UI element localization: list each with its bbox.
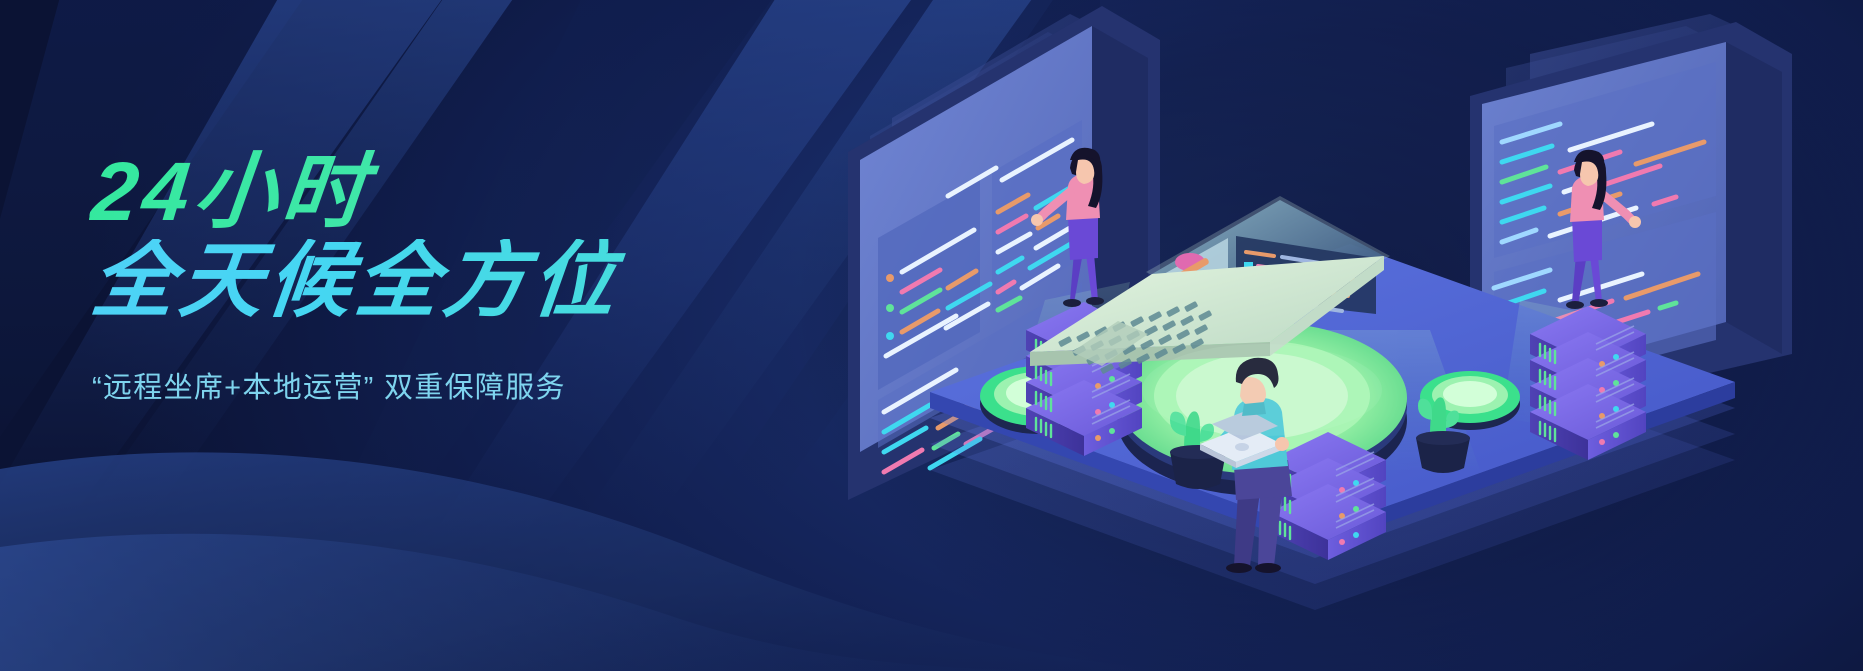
hero-banner: 24小时 全天候全方位 “远程坐席+本地运营” 双重保障服务 [0,0,1863,671]
headline-line-2: 全天候全方位 [88,239,857,322]
headline-line-1: 24小时 [88,150,857,233]
hero-copy: 24小时 全天候全方位 “远程坐席+本地运营” 双重保障服务 [92,150,852,406]
isometric-data-center-illustration [830,0,1863,671]
hero-subtitle: “远程坐席+本地运营” 双重保障服务 [92,364,852,406]
server-rack-right [1530,306,1646,460]
